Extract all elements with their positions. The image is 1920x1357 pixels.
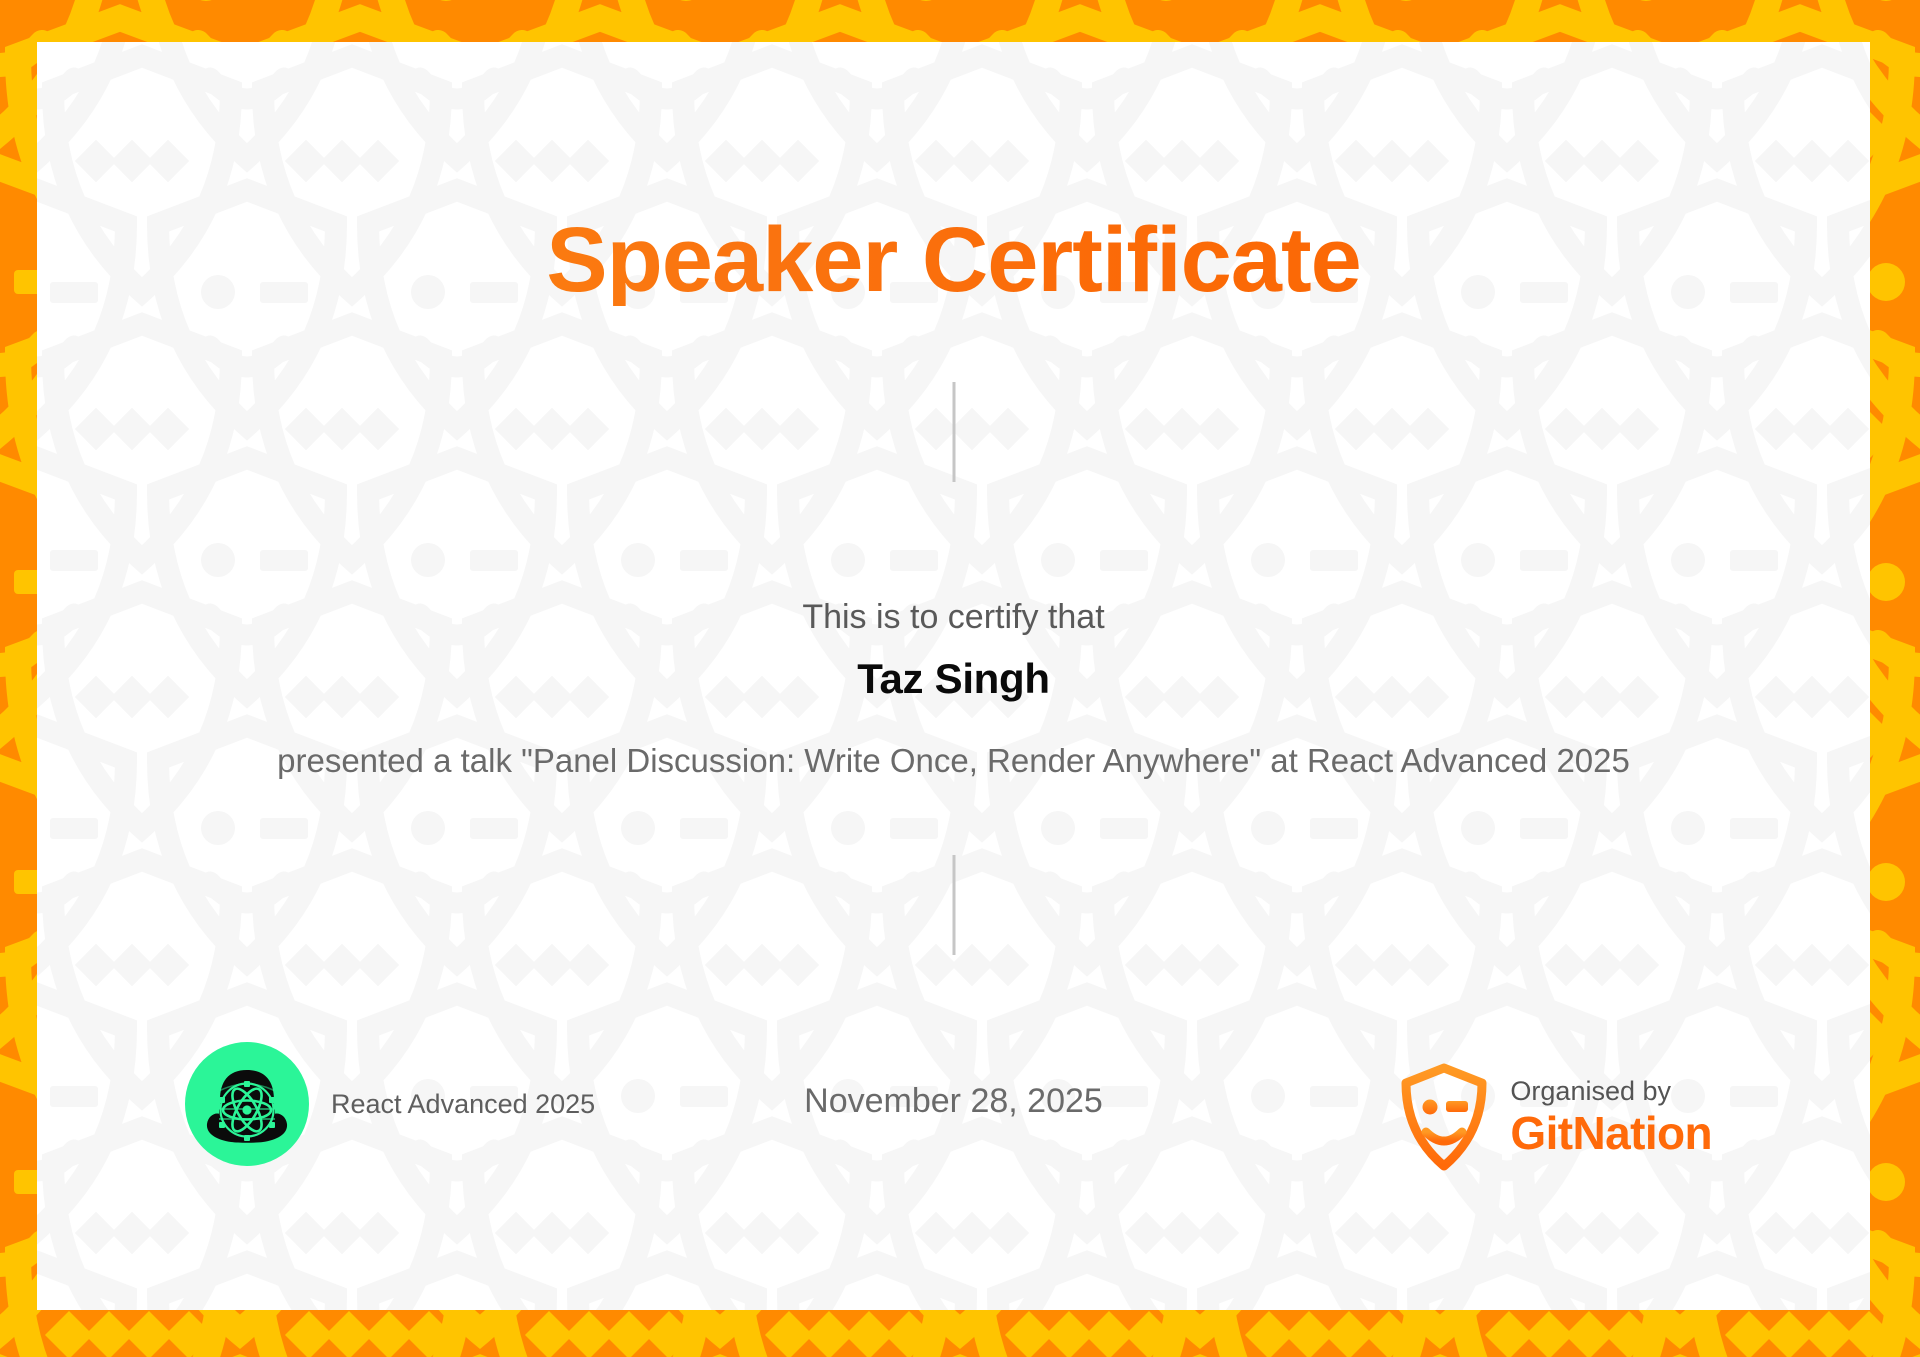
talk-description: presented a talk "Panel Discussion: Writ… [259, 740, 1649, 782]
organiser-name: GitNation [1510, 1109, 1712, 1157]
recipient-name: Taz Singh [37, 655, 1870, 703]
organised-by-label: Organised by [1510, 1077, 1712, 1105]
certificate-root: Speaker Certificate This is to certify t… [0, 0, 1920, 1357]
divider-top [952, 382, 955, 482]
divider-bottom [952, 855, 955, 955]
certify-line: This is to certify that [37, 598, 1870, 637]
page-title: Speaker Certificate [37, 214, 1870, 306]
organiser-block: Organised by GitNation [1398, 1062, 1712, 1172]
gitnation-shield-face-icon [1398, 1062, 1490, 1172]
certificate-footer: React Advanced 2025 November 28, 2025 [37, 1042, 1870, 1212]
certificate-card: Speaker Certificate This is to certify t… [37, 42, 1870, 1310]
